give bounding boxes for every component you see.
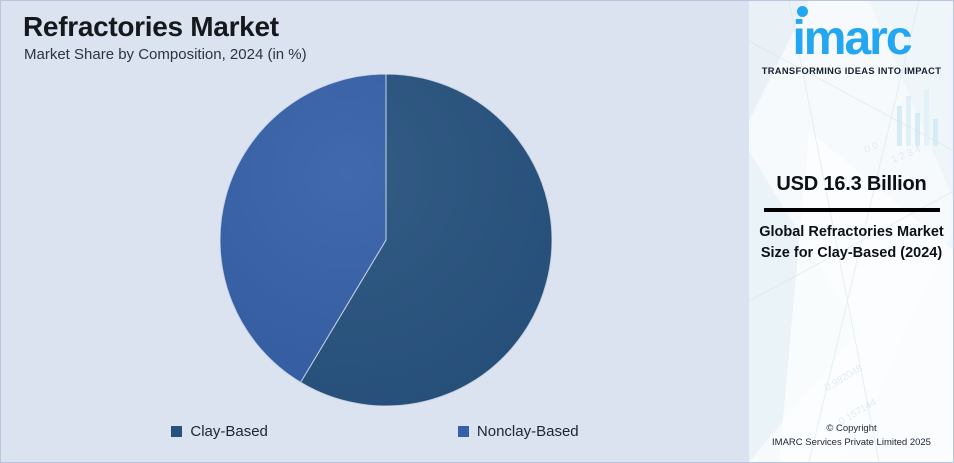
stat-divider bbox=[764, 208, 940, 212]
infographic-card: Refractories Market Market Share by Comp… bbox=[0, 0, 954, 463]
stat-caption: Global Refractories Market Size for Clay… bbox=[757, 222, 946, 264]
legend-label-clay-based: Clay-Based bbox=[190, 423, 268, 440]
stat-value: USD 16.3 Billion bbox=[757, 173, 946, 196]
chart-subtitle: Market Share by Composition, 2024 (in %) bbox=[24, 46, 307, 63]
pie-chart bbox=[220, 74, 552, 406]
svg-text:1 2 3 4: 1 2 3 4 bbox=[890, 144, 923, 166]
pie-chart-svg bbox=[220, 74, 552, 406]
legend-swatch-icon bbox=[458, 426, 469, 437]
imarc-wordmark-text: imarc bbox=[792, 12, 910, 65]
legend-item-clay-based[interactable]: Clay-Based bbox=[171, 423, 268, 440]
copyright-line-2: IMARC Services Private Limited 2025 bbox=[749, 436, 954, 450]
brand-panel: 1 2 3 4 0.0 0.982048 0.157144 imarc TRAN… bbox=[749, 1, 954, 462]
stat-block: USD 16.3 Billion Global Refractories Mar… bbox=[749, 173, 954, 264]
legend-swatch-icon bbox=[171, 426, 182, 437]
svg-text:0.0: 0.0 bbox=[863, 140, 880, 156]
legend-item-nonclay-based[interactable]: Nonclay-Based bbox=[458, 423, 579, 440]
imarc-tagline: TRANSFORMING IDEAS INTO IMPACT bbox=[749, 66, 954, 76]
chart-legend: Clay-Based Nonclay-Based bbox=[1, 423, 749, 440]
svg-text:0.982048: 0.982048 bbox=[823, 363, 865, 394]
copyright-block: © Copyright IMARC Services Private Limit… bbox=[749, 422, 954, 450]
copyright-line-1: © Copyright bbox=[749, 422, 954, 436]
chart-panel: Refractories Market Market Share by Comp… bbox=[1, 1, 749, 462]
imarc-logo: imarc TRANSFORMING IDEAS INTO IMPACT bbox=[749, 15, 954, 76]
page-title: Refractories Market bbox=[23, 11, 279, 43]
legend-label-nonclay-based: Nonclay-Based bbox=[477, 423, 579, 440]
pie-shade-overlay bbox=[220, 74, 552, 406]
imarc-wordmark: imarc bbox=[792, 15, 910, 63]
